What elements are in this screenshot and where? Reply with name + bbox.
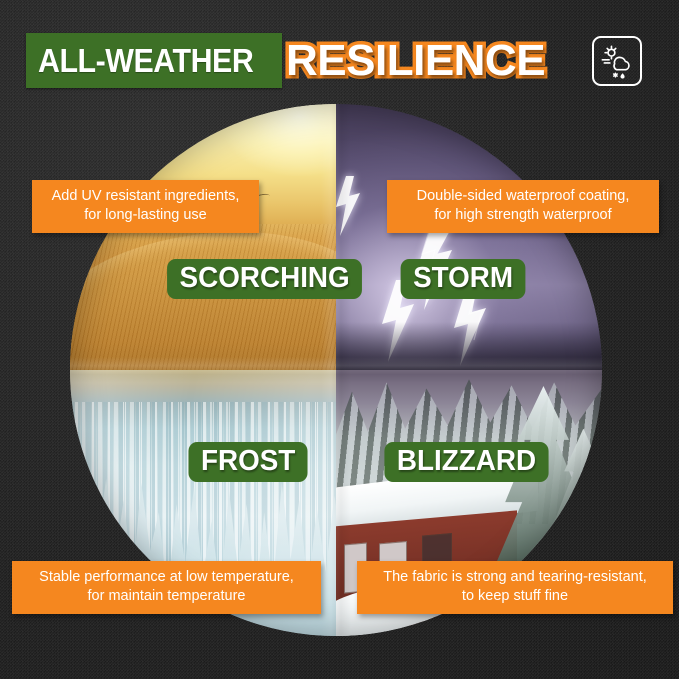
header-title-all-weather: ALL-WEATHER [38, 42, 253, 80]
callout-uv-resistant: Add UV resistant ingredients, for long-l… [32, 180, 259, 233]
header-green-block: ALL-WEATHER [26, 33, 282, 88]
label-scorching: SCORCHING [167, 259, 362, 299]
quadrant-scorching [70, 104, 336, 370]
weather-sun-cloud-wind-snow-rain-icon [592, 36, 642, 86]
callout-waterproof-coating: Double-sided waterproof coating, for hig… [387, 180, 659, 233]
infographic-page: ALL-WEATHER RESILIENCE [0, 0, 679, 679]
header-banner: ALL-WEATHER RESILIENCE [26, 33, 551, 88]
callout-tearing-resistant: The fabric is strong and tearing-resista… [357, 561, 673, 614]
header-orange-block: RESILIENCE [280, 33, 551, 88]
quadrant-storm [336, 104, 602, 370]
label-blizzard: BLIZZARD [384, 442, 548, 482]
sun-glow [219, 104, 336, 176]
storm-horizon [336, 322, 602, 370]
label-frost: FROST [188, 442, 307, 482]
header-title-resilience: RESILIENCE [286, 36, 545, 86]
label-storm: STORM [401, 259, 526, 299]
callout-low-temperature: Stable performance at low temperature, f… [12, 561, 321, 614]
